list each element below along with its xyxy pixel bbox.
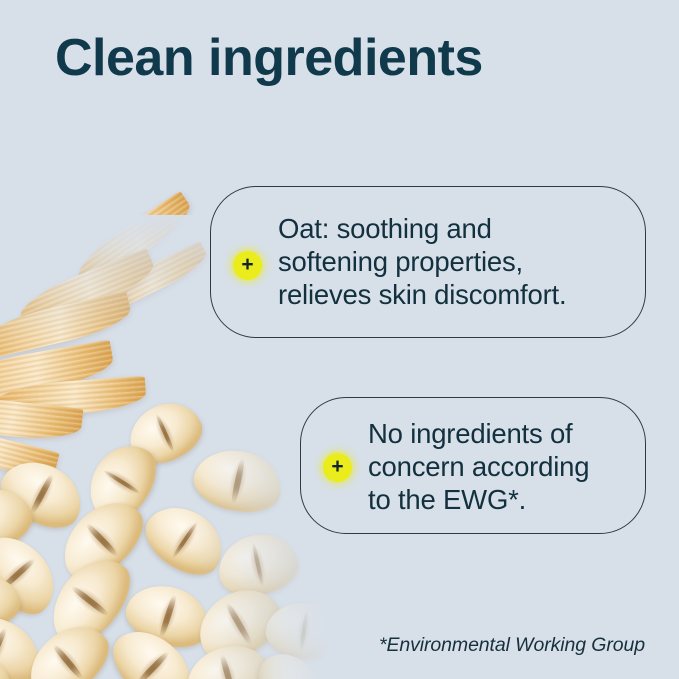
benefit-card-ewg: + No ingredients of concern according to…: [300, 397, 646, 534]
benefit-card-text: Oat: soothing and softening properties, …: [278, 212, 566, 311]
plus-glyph: +: [241, 254, 253, 275]
plus-icon: +: [323, 453, 352, 482]
plus-glyph: +: [331, 456, 343, 477]
benefit-card-oat: + Oat: soothing and softening properties…: [210, 186, 646, 338]
footnote: *Environmental Working Group: [379, 634, 645, 657]
benefit-card-text: No ingredients of concern according to t…: [368, 417, 589, 516]
plus-icon: +: [233, 251, 262, 280]
product-feature-panel: Clean ingredients + Oat: soothing and so…: [0, 0, 679, 679]
page-title: Clean ingredients: [55, 31, 483, 86]
oat-flake: [189, 443, 288, 520]
